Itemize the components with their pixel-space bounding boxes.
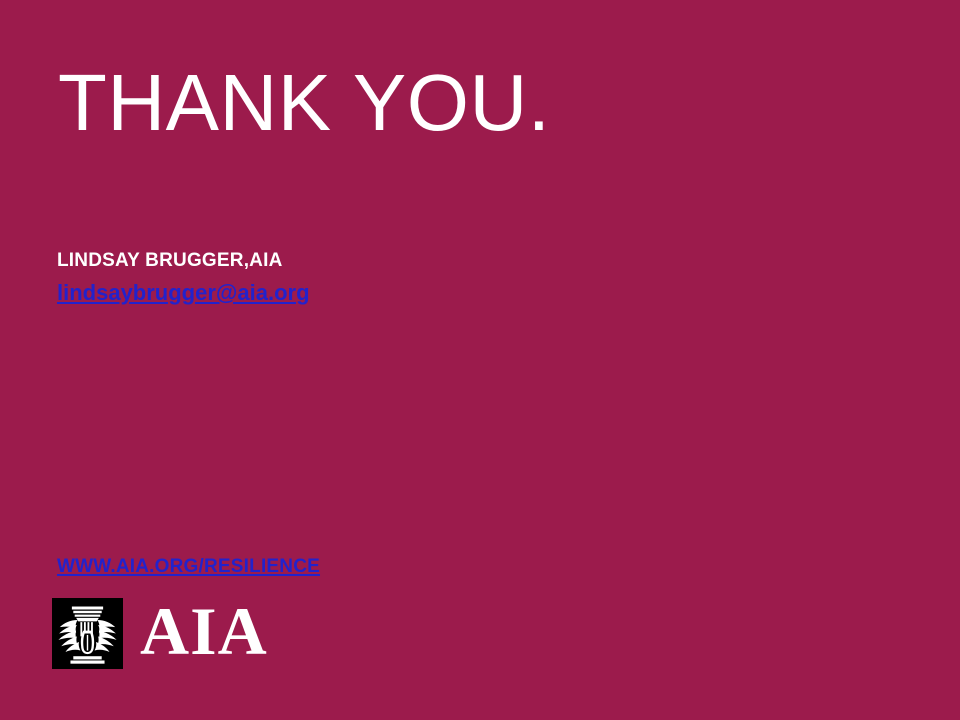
aia-wordmark: AIA bbox=[140, 597, 268, 669]
page-title: THANK YOU. bbox=[58, 60, 551, 146]
email-link[interactable]: lindsaybrugger@aia.org bbox=[57, 280, 310, 306]
aia-logo: AIA bbox=[52, 597, 268, 669]
presenter-name: LINDSAY BRUGGER,AIA bbox=[57, 248, 657, 274]
website-link[interactable]: WWW.AIA.ORG/RESILIENCE bbox=[57, 555, 320, 579]
aia-eagle-column-emblem-icon bbox=[52, 598, 123, 669]
presentation-slide: THANK YOU. LINDSAY BRUGGER,AIA lindsaybr… bbox=[0, 0, 960, 720]
contact-block: LINDSAY BRUGGER,AIA lindsaybrugger@aia.o… bbox=[57, 248, 657, 306]
